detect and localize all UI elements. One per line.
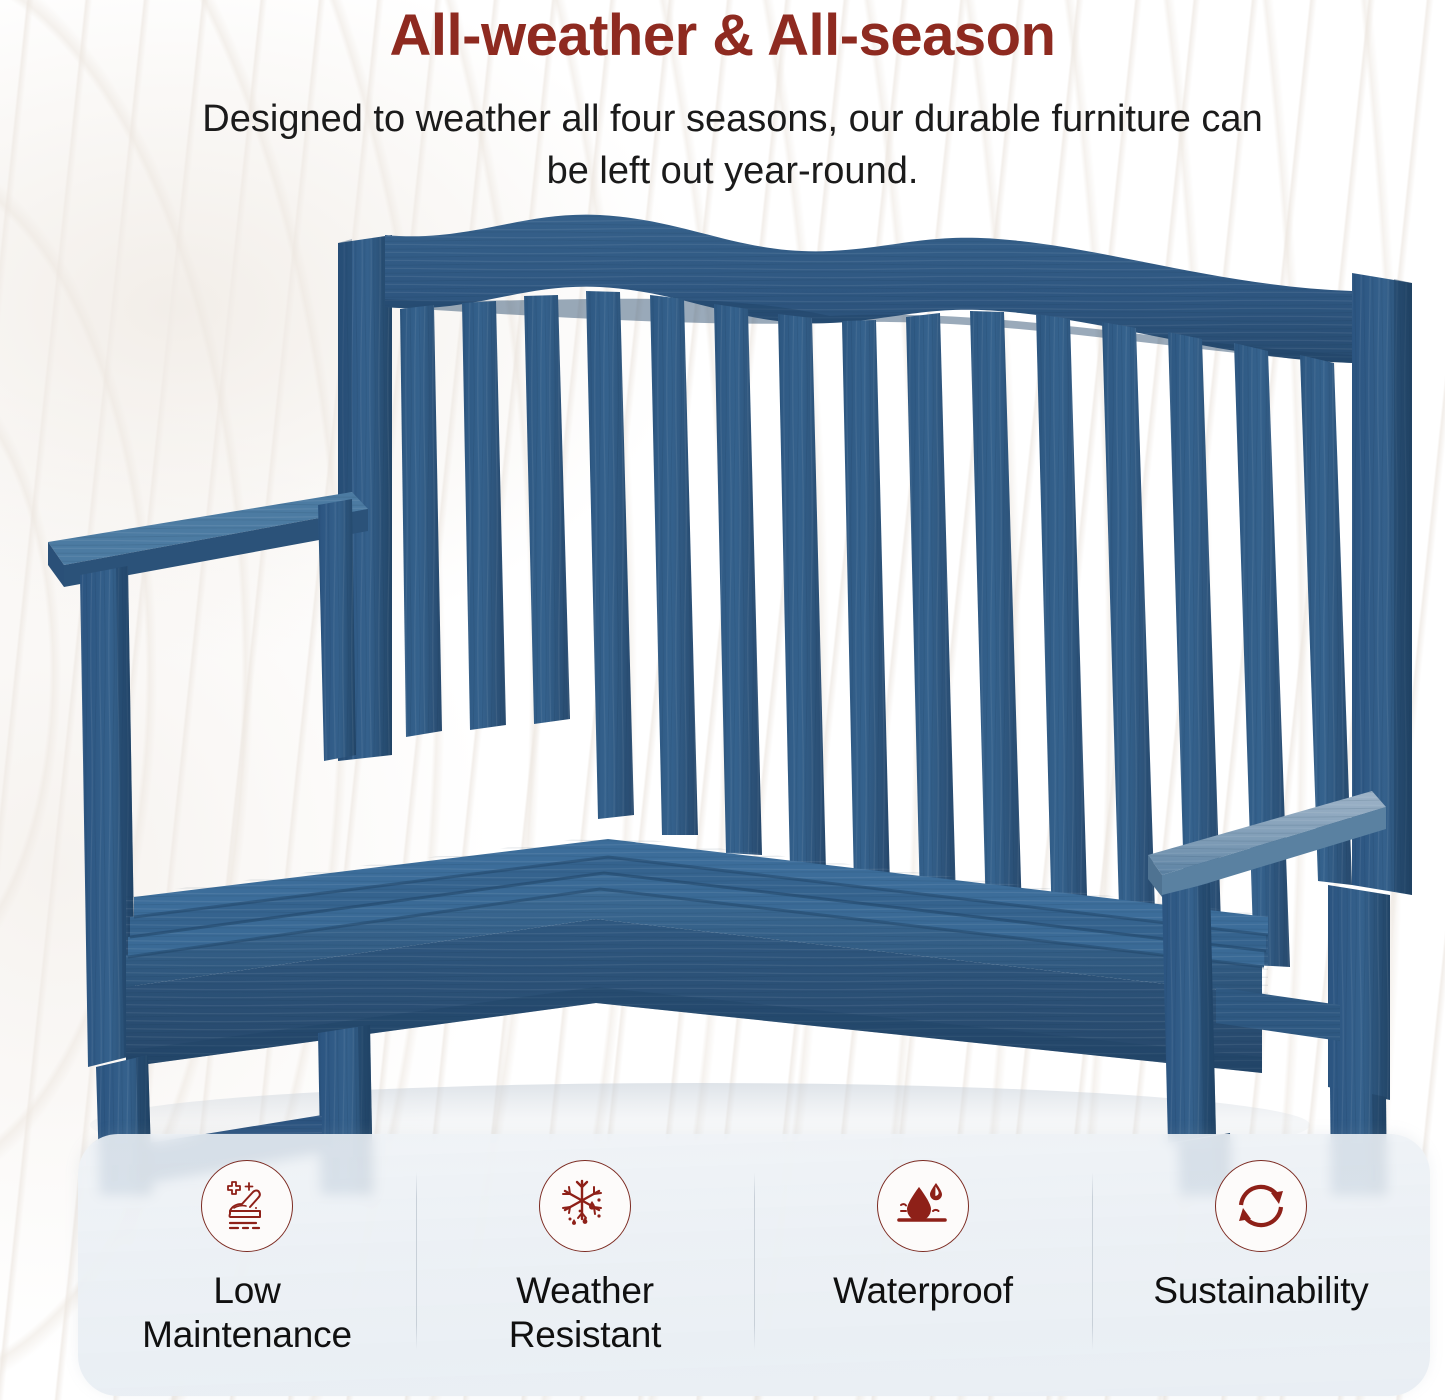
feature-label: Weather Resistant (509, 1269, 661, 1356)
recycle-arrows-icon (1215, 1160, 1307, 1252)
page-subheadline: Designed to weather all four seasons, ou… (190, 93, 1275, 197)
feature-label: Waterproof (833, 1269, 1013, 1313)
hand-wipe-clean-icon (201, 1160, 293, 1252)
feature-label: Low Maintenance (142, 1269, 352, 1356)
feature-item-low-maintenance[interactable]: Low Maintenance (78, 1160, 416, 1356)
feature-label: Sustainability (1153, 1269, 1368, 1313)
feature-highlights-panel: Low Maintenance (78, 1134, 1430, 1396)
page-headline: All-weather & All-season (0, 6, 1445, 67)
feature-item-waterproof[interactable]: Waterproof (754, 1160, 1092, 1313)
feature-item-weather-resistant[interactable]: Weather Resistant (416, 1160, 754, 1356)
bench-product-photo (0, 195, 1445, 1195)
water-droplet-surface-icon (877, 1160, 969, 1252)
snowflake-rain-icon (539, 1160, 631, 1252)
product-feature-banner: All-weather & All-season Designed to wea… (0, 0, 1445, 1400)
feature-item-sustainability[interactable]: Sustainability (1092, 1160, 1430, 1313)
